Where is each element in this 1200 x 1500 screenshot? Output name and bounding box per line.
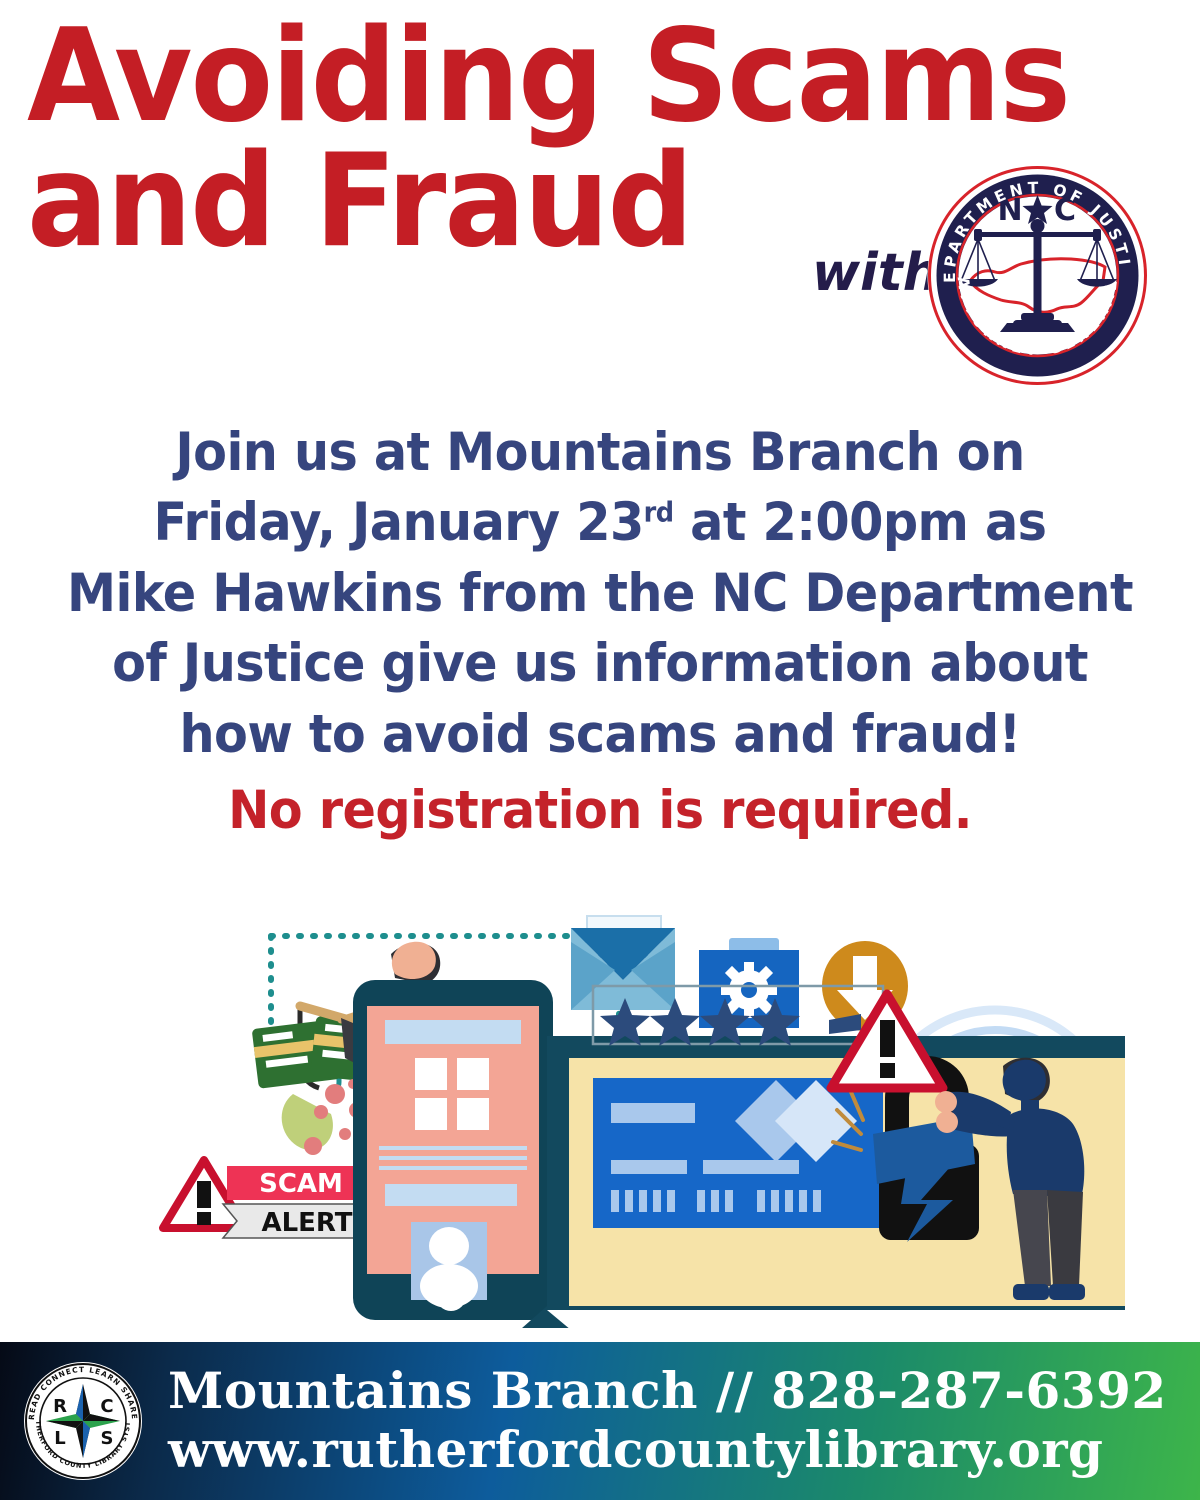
- footer-contact: Mountains Branch // 828-287-6392 www.rut…: [168, 1362, 1183, 1479]
- title-line-1: Avoiding Scams: [27, 14, 835, 139]
- ordinal-suffix: rd: [644, 497, 674, 529]
- credit-card-graphic: [593, 1078, 883, 1228]
- poster-header: Avoiding Scams and Fraud with: [0, 0, 1200, 400]
- body-line-4: of Justice give us information about: [61, 629, 1140, 699]
- alert-label: ALERT: [261, 1208, 352, 1238]
- footer-branch-phone: Mountains Branch // 828-287-6392: [168, 1362, 1183, 1421]
- poster-canvas: Avoiding Scams and Fraud with: [0, 0, 1200, 1500]
- rcls-letter-l: L: [54, 1428, 65, 1449]
- smartphone: [353, 980, 553, 1320]
- body-line-1: Join us at Mountains Branch on: [61, 418, 1140, 488]
- body-line-2: Friday, January 23rd at 2:00pm as: [61, 488, 1140, 558]
- envelope-icon: [571, 916, 675, 1010]
- title-line-2: and Fraud: [27, 139, 835, 264]
- scam-label: SCAM: [259, 1169, 343, 1199]
- no-registration-note: No registration is required.: [61, 776, 1140, 846]
- event-description: Join us at Mountains Branch on Friday, J…: [20, 418, 1180, 847]
- rcls-letter-c: C: [100, 1396, 113, 1417]
- body-line-3: Mike Hawkins from the NC Department: [61, 559, 1140, 629]
- rcls-letter-r: R: [53, 1396, 67, 1417]
- rcls-logo: R C L S READ CONNECT LEARN SHARE RUTHERF…: [22, 1360, 144, 1482]
- body-line-2-post: at 2:00pm as: [674, 492, 1047, 553]
- page-title: Avoiding Scams and Fraud: [27, 14, 835, 265]
- rcls-letter-s: S: [101, 1428, 114, 1449]
- body-line-2-pre: Friday, January 23: [154, 492, 644, 553]
- poster-footer: R C L S READ CONNECT LEARN SHARE RUTHERF…: [0, 1342, 1200, 1500]
- with-label: with: [812, 243, 940, 303]
- body-line-5: how to avoid scams and fraud!: [61, 700, 1140, 770]
- footer-website[interactable]: www.rutherfordcountylibrary.org: [168, 1421, 1183, 1480]
- phishing-illustration: SCAM ALERT: [95, 898, 1125, 1328]
- nc-doj-seal: N C DEPARTMENT OF JUSTICE ATTORNEY GENER…: [925, 163, 1150, 388]
- folder-gear-icon: [699, 938, 799, 1028]
